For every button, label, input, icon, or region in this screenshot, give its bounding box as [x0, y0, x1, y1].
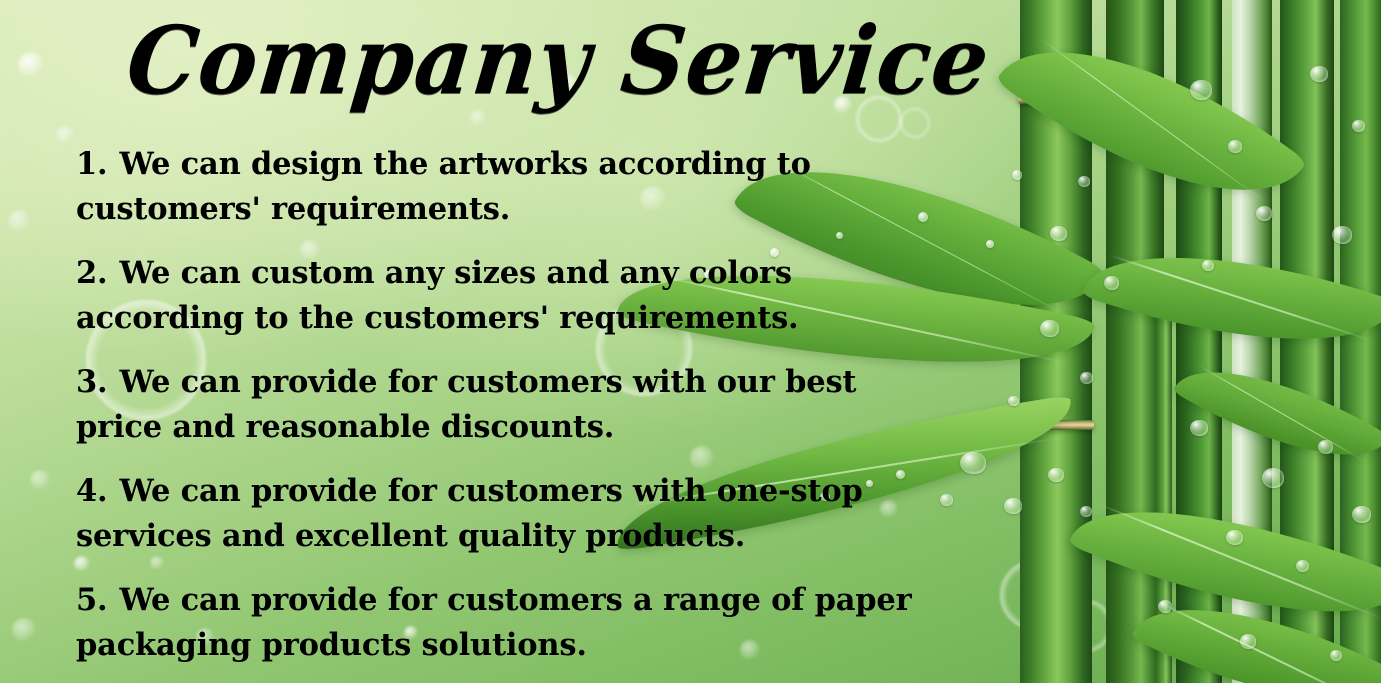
- list-item-number: 3.: [76, 364, 107, 400]
- list-item: 4.We can provide for customers with one-…: [76, 469, 936, 559]
- list-item-text: We can provide for customers with one-st…: [76, 473, 863, 554]
- list-item: 1.We can design the artworks according t…: [76, 142, 936, 232]
- list-item-text: We can provide for customers a range of …: [76, 582, 912, 663]
- list-item: 3.We can provide for customers with our …: [76, 360, 936, 450]
- list-item-number: 4.: [76, 473, 107, 509]
- list-item-number: 1.: [76, 146, 107, 182]
- list-item-text: We can custom any sizes and any colors a…: [76, 255, 798, 336]
- company-service-banner: Company Service 1.We can design the artw…: [0, 0, 1381, 683]
- page-title: Company Service: [122, 5, 995, 115]
- service-list: 1.We can design the artworks according t…: [76, 142, 936, 668]
- list-item-text: We can design the artworks according to …: [76, 146, 811, 227]
- list-item-number: 5.: [76, 582, 107, 618]
- list-item-number: 2.: [76, 255, 107, 291]
- list-item: 2.We can custom any sizes and any colors…: [76, 251, 936, 341]
- list-item: 5.We can provide for customers a range o…: [76, 578, 936, 668]
- list-item-text: We can provide for customers with our be…: [76, 364, 856, 445]
